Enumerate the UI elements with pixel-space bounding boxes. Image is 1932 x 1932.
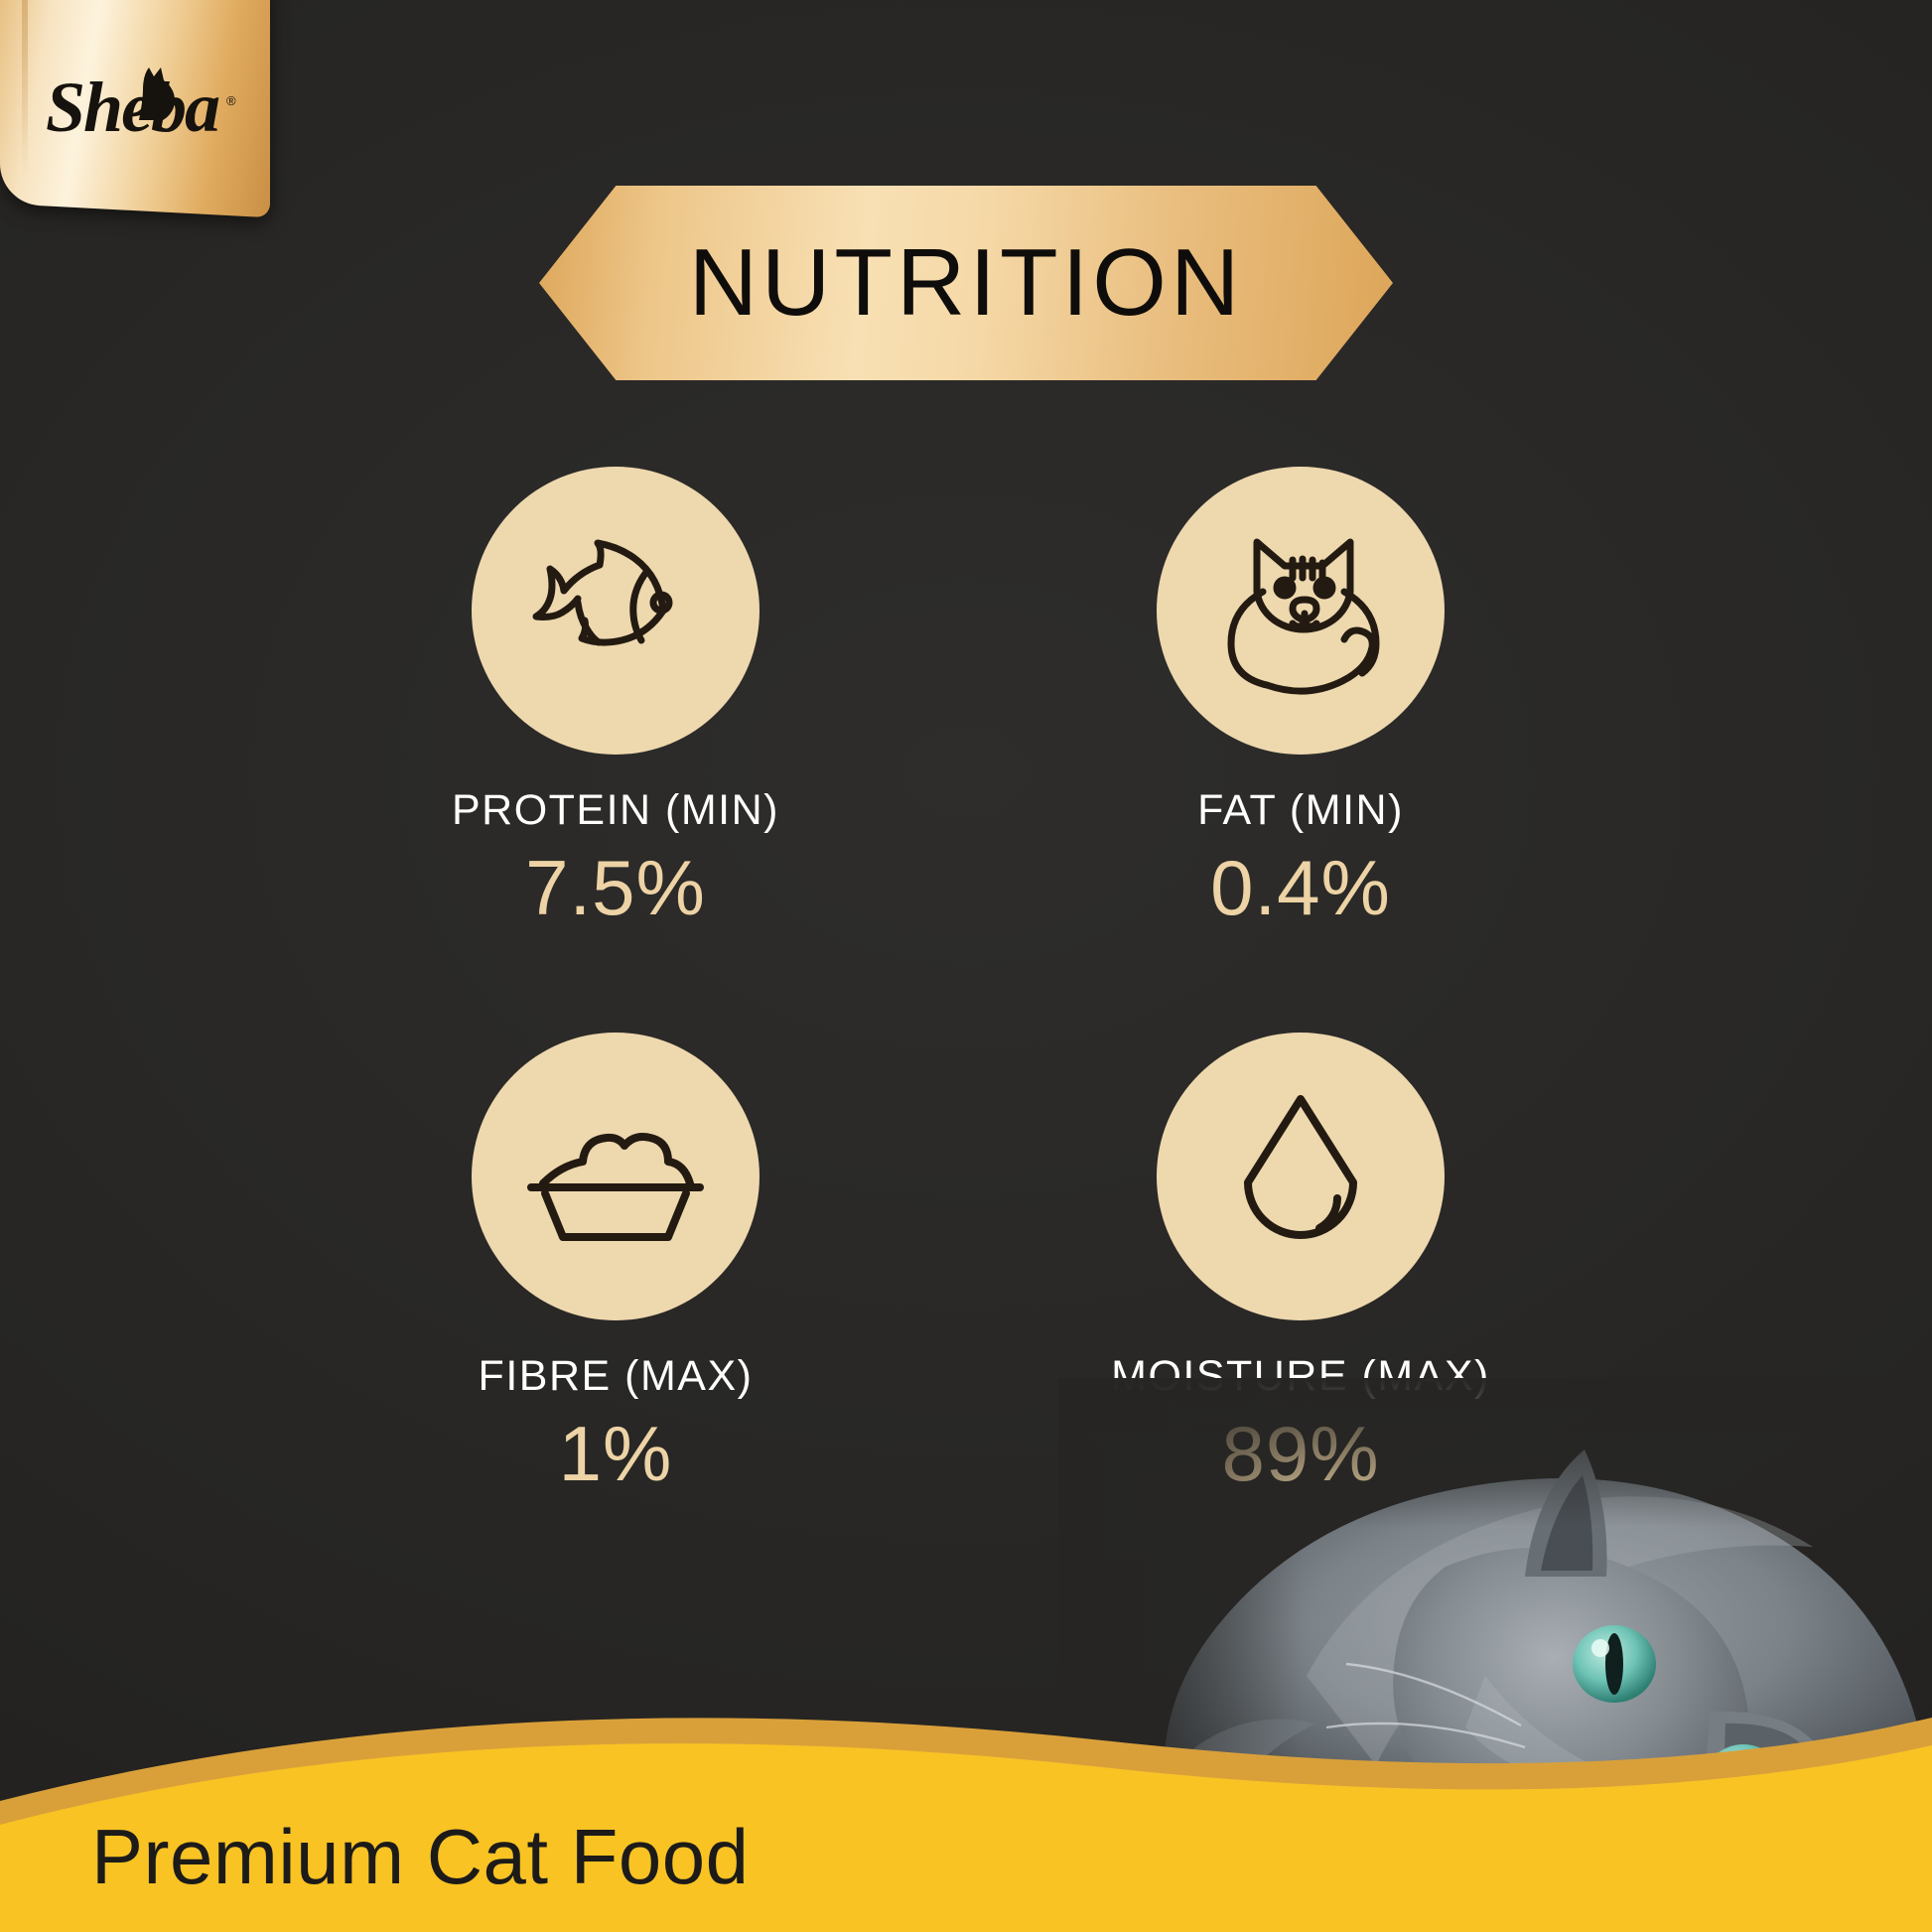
water-drop-icon xyxy=(1226,1087,1375,1266)
nutrition-item-moisture: MOISTURE (MAX) 89% xyxy=(1023,1033,1579,1499)
logo-ribbon-fold xyxy=(22,0,28,179)
protein-icon-circle xyxy=(472,467,759,755)
fat-icon-circle xyxy=(1157,467,1445,755)
nutrition-label: FIBRE (MAX) xyxy=(338,1352,894,1401)
fibre-icon-circle xyxy=(472,1033,759,1320)
cat-icon xyxy=(1211,526,1390,695)
fish-icon xyxy=(526,531,705,690)
nutrition-value: 7.5% xyxy=(338,843,894,933)
nutrition-item-fibre: FIBRE (MAX) 1% xyxy=(338,1033,894,1499)
nutrition-item-protein: PROTEIN (MIN) 7.5% xyxy=(338,467,894,933)
page-title: NUTRITION xyxy=(689,228,1244,338)
svg-text:®: ® xyxy=(226,93,236,108)
nutrition-infographic: Sheba ® NUTRITION xyxy=(0,0,1932,1932)
nutrition-item-fat: FAT (MIN) 0.4% xyxy=(1023,467,1579,933)
nutrition-banner: NUTRITION xyxy=(539,186,1393,380)
moisture-icon-circle xyxy=(1157,1033,1445,1320)
logo-wordmark: Sheba ® xyxy=(46,62,244,151)
nutrition-value: 0.4% xyxy=(1023,843,1579,933)
nutrition-grid: PROTEIN (MIN) 7.5% xyxy=(338,467,1579,1579)
nutrition-label: MOISTURE (MAX) xyxy=(1023,1352,1579,1401)
sheba-logo: Sheba ® xyxy=(0,0,270,213)
svg-text:Sheba: Sheba xyxy=(46,68,219,147)
bottom-banner: Premium Cat Food xyxy=(0,1684,1932,1932)
food-bowl-icon xyxy=(521,1102,710,1251)
nutrition-label: FAT (MIN) xyxy=(1023,786,1579,835)
footer-tagline: Premium Cat Food xyxy=(91,1812,750,1902)
nutrition-label: PROTEIN (MIN) xyxy=(338,786,894,835)
nutrition-value: 1% xyxy=(338,1409,894,1499)
nutrition-value: 89% xyxy=(1023,1409,1579,1499)
